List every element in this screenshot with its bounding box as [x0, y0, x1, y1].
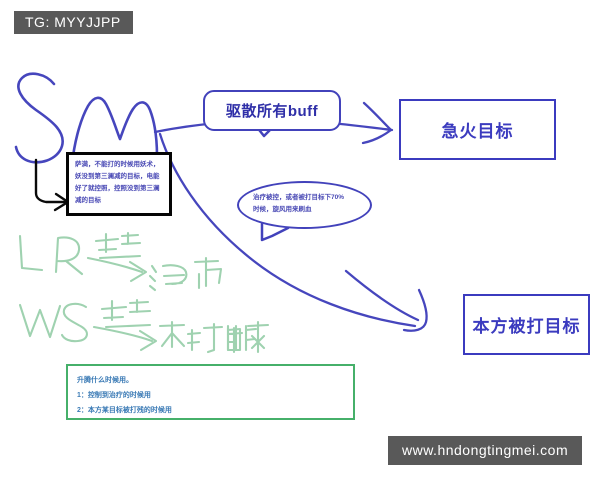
handwritten-label-lr-target: 治疗	[146, 256, 226, 294]
callout-heal-condition: 治疗被控，或者被打目标下70% 时候，旋风用来刷血	[237, 181, 372, 229]
diagram-canvas: TG: MYYJJPP 萨满，不能打的时候用妖术， 妖没到第三澜减的目标，电能 …	[0, 0, 600, 480]
handwritten-label-ws-control: 控	[100, 298, 154, 330]
note-shaman-line: 减的目标	[75, 195, 164, 207]
note-shaman-line: 妖没到第三澜减的目标，电能	[75, 171, 164, 183]
arrow-sm-to-ally-target	[160, 134, 427, 331]
box-ally-attacked-target: 本方被打目标	[463, 294, 590, 355]
callout-heal-line: 治疗被控，或者被打目标下70%	[253, 192, 360, 204]
handwritten-label-lr-control: 控	[94, 230, 144, 264]
note-green-line: 2：本方某目标被打残的时候用	[77, 403, 353, 418]
callout-heal-line: 时候，旋风用来刷血	[253, 204, 360, 216]
note-ascendance-usage: 升腾什么时候用。 1：控制到治疗的时候用 2：本方某目标被打残的时候用	[66, 364, 355, 420]
note-green-line: 升腾什么时候用。	[77, 373, 353, 388]
note-green-line: 1：控制到治疗的时候用	[77, 388, 353, 403]
callout-dispel-label: 驱散所有buff	[226, 100, 318, 121]
note-shaman-line: 好了就控照，控照没到第三澜	[75, 183, 164, 195]
telegram-watermark-tag: TG: MYYJJPP	[14, 11, 133, 34]
handwritten-label-ws-target: 不打的目标	[158, 318, 270, 356]
site-watermark-tag: www.hndongtingmei.com	[388, 436, 582, 465]
handwritten-label-lr: LR	[16, 232, 86, 278]
handwritten-label-ws: WS	[16, 300, 90, 344]
box-urgent-target: 急火目标	[399, 99, 556, 160]
handwritten-label-sm: SM	[14, 78, 164, 170]
callout-dispel-all-buffs: 驱散所有buff	[203, 90, 341, 131]
